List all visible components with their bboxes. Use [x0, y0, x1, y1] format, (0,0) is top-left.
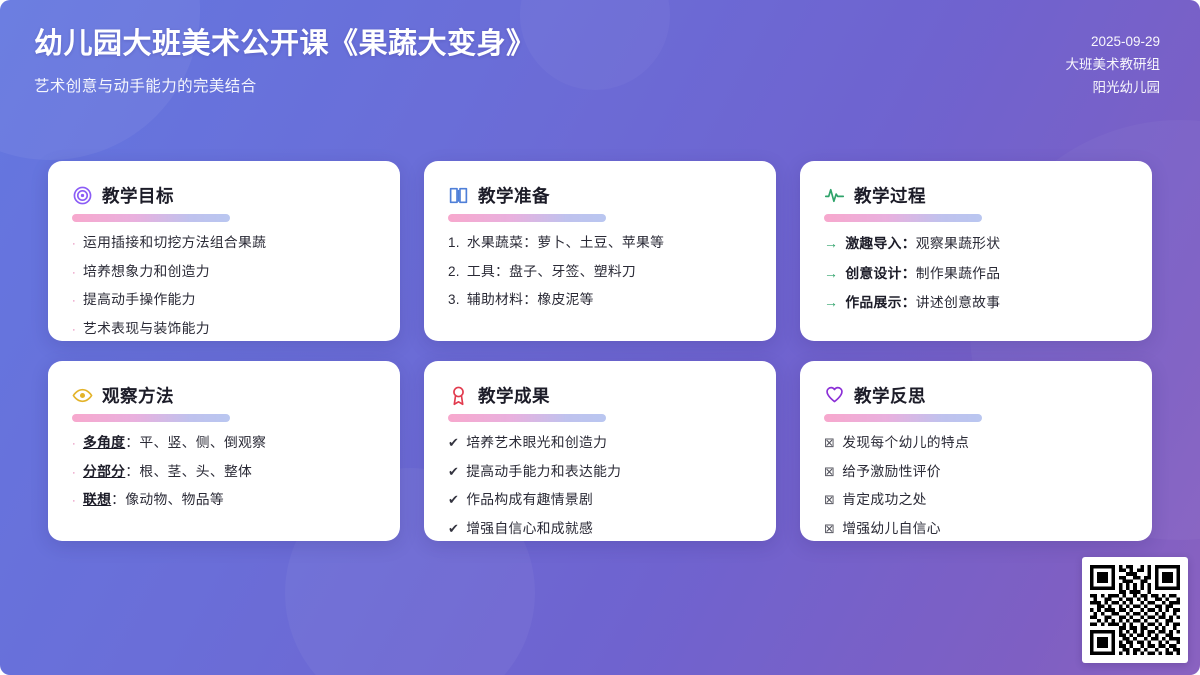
list-item-text: 培养想象力和创造力 — [83, 263, 376, 282]
card-teaching-process[interactable]: 教学过程→激趣导入：观察果蔬形状→创意设计：制作果蔬作品→作品展示：讲述创意故事 — [800, 161, 1152, 341]
qr-code-image — [1090, 565, 1180, 655]
card-list: ✔培养艺术眼光和创造力✔提高动手能力和表达能力✔作品构成有趣情景剧✔增强自信心和… — [448, 434, 752, 539]
card-title: 观察方法 — [102, 383, 174, 408]
card-list: ·多角度：平、竖、侧、倒观察·分部分：根、茎、头、整体·联想：像动物、物品等 — [72, 434, 376, 510]
list-marker-dot-icon: · — [72, 494, 76, 509]
list-item-text: 肯定成功之处 — [842, 491, 1128, 510]
list-marker-box-icon: ⊠ — [824, 435, 835, 453]
list-item-text: 多角度：平、竖、侧、倒观察 — [83, 434, 376, 453]
header-meta-block: 2025-09-29 大班美术教研组 阳光幼儿园 — [1066, 26, 1161, 100]
list-item-text: 分部分：根、茎、头、整体 — [83, 463, 376, 482]
list-item[interactable]: ·多角度：平、竖、侧、倒观察 — [72, 434, 376, 453]
award-icon — [448, 385, 469, 406]
pulse-icon — [824, 185, 845, 206]
card-title-underline — [72, 414, 230, 422]
list-item[interactable]: ✔作品构成有趣情景剧 — [448, 491, 752, 510]
list-item[interactable]: ✔提高动手能力和表达能力 — [448, 463, 752, 482]
qr-code[interactable] — [1082, 557, 1188, 663]
page-title: 幼儿园大班美术公开课《果蔬大变身》 — [34, 26, 536, 62]
list-item-text: 艺术表现与装饰能力 — [83, 320, 376, 339]
card-title-underline — [448, 214, 606, 222]
card-list: ⊠发现每个幼儿的特点⊠给予激励性评价⊠肯定成功之处⊠增强幼儿自信心 — [824, 434, 1128, 539]
list-marker-check-icon: ✔ — [448, 463, 459, 481]
card-observation-methods[interactable]: 观察方法·多角度：平、竖、侧、倒观察·分部分：根、茎、头、整体·联想：像动物、物… — [48, 361, 400, 541]
list-item-text: 作品展示：讲述创意故事 — [845, 294, 1128, 313]
card-header: 教学反思 — [824, 383, 1128, 407]
list-marker-arrow-icon: → — [824, 293, 838, 312]
list-item-text: 联想：像动物、物品等 — [83, 491, 376, 510]
list-item-text: 发现每个幼儿的特点 — [842, 434, 1128, 453]
list-item[interactable]: 2.工具：盘子、牙签、塑料刀 — [448, 263, 752, 282]
card-title-underline — [72, 214, 230, 222]
list-item-text: 提高动手能力和表达能力 — [466, 463, 752, 482]
card-teaching-reflection[interactable]: 教学反思⊠发现每个幼儿的特点⊠给予激励性评价⊠肯定成功之处⊠增强幼儿自信心 — [800, 361, 1152, 541]
list-marker-dot-icon: · — [72, 237, 76, 252]
list-item-emphasis: 联想 — [83, 492, 111, 507]
card-title: 教学准备 — [478, 183, 550, 208]
list-marker-number-icon: 1. — [448, 234, 460, 252]
heart-icon — [824, 385, 845, 406]
list-marker-check-icon: ✔ — [448, 491, 459, 509]
list-item[interactable]: ·运用插接和切挖方法组合果蔬 — [72, 234, 376, 253]
book-icon — [448, 185, 469, 206]
card-header: 教学过程 — [824, 183, 1128, 207]
list-item[interactable]: →激趣导入：观察果蔬形状 — [824, 234, 1128, 254]
card-list: 1.水果蔬菜：萝卜、土豆、苹果等2.工具：盘子、牙签、塑料刀3.辅助材料：橡皮泥… — [448, 234, 752, 310]
list-item[interactable]: →作品展示：讲述创意故事 — [824, 293, 1128, 313]
list-item[interactable]: ✔培养艺术眼光和创造力 — [448, 434, 752, 453]
list-item-detail: ：平、竖、侧、倒观察 — [125, 435, 266, 450]
list-item[interactable]: ⊠肯定成功之处 — [824, 491, 1128, 510]
card-grid: 教学目标·运用插接和切挖方法组合果蔬·培养想象力和创造力·提高动手操作能力·艺术… — [48, 161, 1152, 541]
list-marker-number-icon: 2. — [448, 263, 460, 281]
card-teaching-preparation[interactable]: 教学准备1.水果蔬菜：萝卜、土豆、苹果等2.工具：盘子、牙签、塑料刀3.辅助材料… — [424, 161, 776, 341]
card-header: 教学成果 — [448, 383, 752, 407]
list-item[interactable]: ·联想：像动物、物品等 — [72, 491, 376, 510]
list-item-detail: 讲述创意故事 — [916, 295, 1001, 310]
header-date: 2025-09-29 — [1066, 30, 1161, 53]
card-title-underline — [824, 214, 982, 222]
list-item-emphasis: 激趣导入： — [845, 236, 915, 251]
list-marker-arrow-icon: → — [824, 264, 838, 283]
list-marker-box-icon: ⊠ — [824, 492, 835, 510]
list-item-text: 创意设计：制作果蔬作品 — [845, 265, 1128, 284]
list-item[interactable]: 3.辅助材料：橡皮泥等 — [448, 291, 752, 310]
list-item[interactable]: ✔增强自信心和成就感 — [448, 520, 752, 539]
card-list: ·运用插接和切挖方法组合果蔬·培养想象力和创造力·提高动手操作能力·艺术表现与装… — [72, 234, 376, 339]
header-school: 阳光幼儿园 — [1066, 76, 1161, 99]
card-title-underline — [448, 414, 606, 422]
list-item-detail: ：像动物、物品等 — [111, 492, 224, 507]
card-title: 教学目标 — [102, 183, 174, 208]
list-marker-dot-icon: · — [72, 323, 76, 338]
card-header: 教学准备 — [448, 183, 752, 207]
list-item[interactable]: ⊠增强幼儿自信心 — [824, 520, 1128, 539]
list-item[interactable]: 1.水果蔬菜：萝卜、土豆、苹果等 — [448, 234, 752, 253]
list-item-text: 作品构成有趣情景剧 — [466, 491, 752, 510]
header-title-block: 幼儿园大班美术公开课《果蔬大变身》 艺术创意与动手能力的完美结合 — [34, 26, 536, 96]
list-item-emphasis: 创意设计： — [845, 266, 915, 281]
card-title: 教学成果 — [478, 383, 550, 408]
list-item-text: 给予激励性评价 — [842, 463, 1128, 482]
list-item-text: 培养艺术眼光和创造力 — [466, 434, 752, 453]
list-item[interactable]: ·分部分：根、茎、头、整体 — [72, 463, 376, 482]
list-item-text: 提高动手操作能力 — [83, 291, 376, 310]
list-marker-dot-icon: · — [72, 266, 76, 281]
list-marker-check-icon: ✔ — [448, 434, 459, 452]
slide-root: 幼儿园大班美术公开课《果蔬大变身》 艺术创意与动手能力的完美结合 2025-09… — [0, 0, 1200, 675]
list-item-emphasis: 多角度 — [83, 435, 125, 450]
card-header: 教学目标 — [72, 183, 376, 207]
list-marker-dot-icon: · — [72, 437, 76, 452]
header-group: 大班美术教研组 — [1066, 53, 1161, 76]
list-marker-dot-icon: · — [72, 294, 76, 309]
card-teaching-outcomes[interactable]: 教学成果✔培养艺术眼光和创造力✔提高动手能力和表达能力✔作品构成有趣情景剧✔增强… — [424, 361, 776, 541]
list-item[interactable]: ·提高动手操作能力 — [72, 291, 376, 310]
list-marker-box-icon: ⊠ — [824, 464, 835, 482]
list-item[interactable]: ⊠给予激励性评价 — [824, 463, 1128, 482]
list-marker-dot-icon: · — [72, 466, 76, 481]
card-title: 教学过程 — [854, 183, 926, 208]
list-item-text: 水果蔬菜：萝卜、土豆、苹果等 — [467, 234, 752, 253]
list-marker-arrow-icon: → — [824, 234, 838, 253]
list-item-emphasis: 分部分 — [83, 464, 125, 479]
list-item-detail: 观察果蔬形状 — [916, 236, 1001, 251]
list-marker-number-icon: 3. — [448, 291, 460, 309]
list-item-text: 增强自信心和成就感 — [466, 520, 752, 539]
card-teaching-goals[interactable]: 教学目标·运用插接和切挖方法组合果蔬·培养想象力和创造力·提高动手操作能力·艺术… — [48, 161, 400, 341]
list-marker-box-icon: ⊠ — [824, 521, 835, 539]
list-item-text: 运用插接和切挖方法组合果蔬 — [83, 234, 376, 253]
card-list: →激趣导入：观察果蔬形状→创意设计：制作果蔬作品→作品展示：讲述创意故事 — [824, 234, 1128, 313]
card-title-underline — [824, 414, 982, 422]
list-item-text: 工具：盘子、牙签、塑料刀 — [467, 263, 752, 282]
list-item-emphasis: 作品展示： — [845, 295, 915, 310]
list-item[interactable]: →创意设计：制作果蔬作品 — [824, 264, 1128, 284]
slide-header: 幼儿园大班美术公开课《果蔬大变身》 艺术创意与动手能力的完美结合 2025-09… — [0, 0, 1200, 130]
list-item[interactable]: ·培养想象力和创造力 — [72, 263, 376, 282]
list-item-text: 增强幼儿自信心 — [842, 520, 1128, 539]
list-marker-check-icon: ✔ — [448, 520, 459, 538]
list-item[interactable]: ⊠发现每个幼儿的特点 — [824, 434, 1128, 453]
card-header: 观察方法 — [72, 383, 376, 407]
list-item-text: 辅助材料：橡皮泥等 — [467, 291, 752, 310]
page-subtitle: 艺术创意与动手能力的完美结合 — [34, 74, 536, 96]
card-title: 教学反思 — [854, 383, 926, 408]
target-icon — [72, 185, 93, 206]
list-item-detail: 制作果蔬作品 — [916, 266, 1001, 281]
list-item-text: 激趣导入：观察果蔬形状 — [845, 235, 1128, 254]
list-item[interactable]: ·艺术表现与装饰能力 — [72, 320, 376, 339]
eye-icon — [72, 385, 93, 406]
list-item-detail: ：根、茎、头、整体 — [125, 464, 252, 479]
